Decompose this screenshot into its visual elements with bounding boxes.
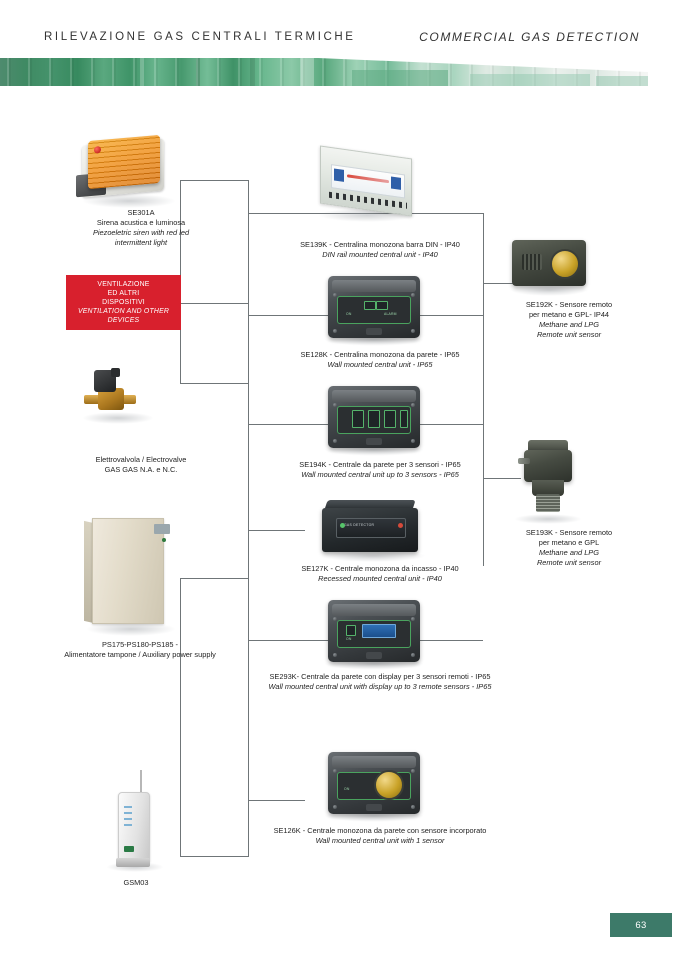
se293k-enclosure: ON: [328, 600, 420, 662]
se301a-desc-en-1: Piezoeletric siren with red led: [52, 228, 230, 238]
se127k-brand-label: GAS DETECTOR: [344, 523, 374, 527]
se301a-code: SE301A: [52, 208, 230, 218]
se301a-desc-it: Sirena acustica e luminosa: [52, 218, 230, 228]
se128k-screw-tr: [411, 293, 415, 297]
se192k-vent-grill: [522, 254, 542, 270]
ps-status-led-icon: [162, 538, 166, 542]
header-title-italian: RILEVAZIONE GAS CENTRALI TERMICHE: [44, 31, 356, 43]
header-title-english: COMMERCIAL GAS DETECTION: [419, 30, 640, 44]
se128k-label-alarm: ALARM: [384, 312, 397, 316]
siren-front-panel: [88, 135, 160, 189]
product-image-electrovalve: [78, 368, 158, 438]
se139k-button-left[interactable]: [334, 169, 344, 182]
se126k-screw-tl: [333, 769, 337, 773]
electrovalve-desc-en: GAS GAS N.A. e N.C.: [52, 465, 230, 475]
se128k-screw-br: [411, 329, 415, 333]
stub-power-supply: [180, 578, 249, 579]
se194k-status-bar: [400, 410, 408, 428]
se128k-enclosure: ON ALARM: [328, 276, 420, 338]
se194k-desc-en: Wall mounted central unit up to 3 sensor…: [250, 470, 510, 480]
product-image-power-supply: [84, 512, 180, 636]
se293k-lcd-display: [362, 624, 396, 638]
se139k-desc-it: SE139K - Centralina monozona barra DIN -…: [250, 240, 510, 250]
se194k-screw-tl: [333, 403, 337, 407]
se193k-line-1: SE193K - Sensore remoto: [480, 528, 658, 538]
se193k-line-3: Methane and LPG: [480, 548, 658, 558]
product-image-se126k: ON: [320, 748, 428, 824]
product-image-se194k: [320, 382, 428, 458]
se293k-screw-tl: [333, 617, 337, 621]
se128k-desc-en: Wall mounted central unit - IP65: [250, 360, 510, 370]
se128k-lid: [332, 280, 416, 292]
ps-display-icon: [154, 524, 170, 534]
se293k-latch[interactable]: [366, 652, 382, 659]
product-image-gsm03: [96, 770, 176, 874]
se301a-desc-en-2: intermittent light: [52, 238, 230, 248]
se192k-line-4: Remote unit sensor: [480, 330, 658, 340]
caption-se192k: SE192K - Sensore remoto per metano e GPL…: [480, 300, 658, 340]
se194k-screw-bl: [333, 439, 337, 443]
se128k-screw-bl: [333, 329, 337, 333]
se139k-din-housing: [320, 146, 412, 217]
se293k-desc-it: SE293K- Centrale da parete con display p…: [240, 672, 520, 682]
se194k-screw-tr: [411, 403, 415, 407]
caption-se194k: SE194K - Centrale da parete per 3 sensor…: [250, 460, 510, 480]
se293k-screw-tr: [411, 617, 415, 621]
gsm-led-strip-icon: [124, 806, 132, 828]
se293k-desc-en: Wall mounted central unit with display u…: [240, 682, 520, 692]
caption-se301a: SE301A Sirena acustica e luminosa Piezoe…: [52, 208, 230, 248]
se128k-indicator-1: [364, 301, 376, 310]
se126k-desc-en: Wall mounted central unit with 1 sensor: [240, 836, 520, 846]
se139k-desc-en: DIN rail mounted central unit - IP40: [250, 250, 510, 260]
se193k-sensor-mesh-icon: [536, 494, 560, 512]
se127k-led-red-icon: [398, 523, 403, 528]
se193k-line-4: Remote unit sensor: [480, 558, 658, 568]
se194k-latch[interactable]: [366, 438, 382, 445]
se127k-desc-it: SE127K - Centrale monozona da incasso - …: [250, 564, 510, 574]
se293k-label-on: ON: [346, 637, 352, 641]
se194k-enclosure: [328, 386, 420, 448]
product-image-se301a: [72, 130, 182, 210]
bus-line-main-vertical: [248, 180, 249, 856]
page-number-badge: 63: [610, 913, 672, 937]
callout-line-5: DEVICES: [108, 316, 140, 325]
stub-se127k: [248, 530, 305, 531]
se293k-screw-bl: [333, 653, 337, 657]
se127k-front-face: [336, 518, 406, 538]
se127k-enclosure: GAS DETECTOR: [322, 508, 418, 552]
se192k-sensor-head-icon: [550, 249, 580, 279]
se194k-screw-br: [411, 439, 415, 443]
valve-shadow: [82, 412, 154, 424]
se194k-lid: [332, 390, 416, 402]
se127k-led-green-icon: [340, 523, 345, 528]
caption-power-supply: PS175-PS180-PS185 - Alimentatore tampone…: [30, 640, 250, 660]
se293k-lid: [332, 604, 416, 616]
se293k-indicator-left: [346, 625, 356, 636]
product-image-se128k: ON ALARM: [320, 272, 428, 348]
electrovalve-desc-it: Elettrovalvola / Electrovalve: [52, 455, 230, 465]
se194k-channel-3: [384, 410, 396, 428]
se194k-channel-2: [368, 410, 380, 428]
callout-line-3: DISPOSITIVI: [102, 298, 145, 307]
caption-se126k: SE126K - Centrale monozona da parete con…: [240, 826, 520, 846]
se128k-indicator-2: [376, 301, 388, 310]
gsm-logo: [124, 846, 134, 852]
se128k-label-on: ON: [346, 312, 352, 316]
caption-se127k: SE127K - Centrale monozona da incasso - …: [250, 564, 510, 584]
gsm-base: [116, 858, 150, 867]
se126k-lid: [332, 756, 416, 768]
stub-valve: [180, 383, 249, 384]
callout-line-4: VENTILATION AND OTHER: [78, 307, 169, 316]
se126k-screw-br: [411, 805, 415, 809]
valve-connector-knob: [111, 368, 120, 377]
caption-se128k: SE128K - Centralina monozona da parete -…: [250, 350, 510, 370]
stub-gsm: [180, 856, 249, 857]
se126k-label-on: ON: [344, 787, 350, 791]
stub-se126k: [248, 800, 305, 801]
se139k-button-right[interactable]: [391, 177, 401, 190]
ps-shadow: [86, 622, 176, 636]
callout-line-1: VENTILAZIONE: [97, 280, 149, 289]
product-image-se139k: [312, 146, 424, 224]
ps-code: PS175-PS180-PS185 -: [30, 640, 250, 650]
caption-gsm03: GSM03: [76, 878, 196, 888]
ps-desc: Alimentatore tampone / Auxiliary power s…: [30, 650, 250, 660]
ps-enclosure: [92, 518, 164, 624]
se192k-enclosure: [512, 240, 586, 286]
product-image-se293k: ON: [320, 596, 428, 672]
se192k-line-1: SE192K - Sensore remoto: [480, 300, 658, 310]
se126k-latch[interactable]: [366, 804, 382, 811]
bus-line-right-vertical: [483, 213, 484, 566]
se126k-screw-tr: [411, 769, 415, 773]
siren-louvres: [88, 135, 160, 189]
se193k-body: [524, 450, 572, 482]
se194k-front-window: [337, 406, 411, 434]
product-image-se127k: GAS DETECTOR: [316, 500, 432, 562]
gsm-code: GSM03: [76, 878, 196, 888]
se293k-front-window: ON: [337, 620, 411, 648]
caption-se193k: SE193K - Sensore remoto per metano e GPL…: [480, 528, 658, 568]
header-green-band: [0, 58, 648, 86]
callout-ventilation-box: VENTILAZIONE ED ALTRI DISPOSITIVI VENTIL…: [66, 275, 181, 330]
se126k-enclosure: ON: [328, 752, 420, 814]
stub-siren-top: [180, 180, 249, 181]
callout-line-2: ED ALTRI: [108, 289, 140, 298]
product-image-se192k: [506, 236, 592, 298]
se193k-cable-gland: [518, 458, 530, 464]
page-header: RILEVAZIONE GAS CENTRALI TERMICHE COMMER…: [0, 0, 678, 92]
se193k-shadow: [514, 514, 582, 524]
se128k-desc-it: SE128K - Centralina monozona da parete -…: [250, 350, 510, 360]
caption-electrovalve: Elettrovalvola / Electrovalve GAS GAS N.…: [52, 455, 230, 475]
gsm-enclosure: [118, 792, 150, 864]
se126k-integrated-sensor-icon: [374, 770, 404, 800]
se126k-desc-it: SE126K - Centrale monozona da parete con…: [240, 826, 520, 836]
se128k-latch[interactable]: [366, 328, 382, 335]
se293k-screw-br: [411, 653, 415, 657]
se193k-line-2: per metano e GPL: [480, 538, 658, 548]
caption-se293k: SE293K- Centrale da parete con display p…: [240, 672, 520, 692]
se127k-desc-en: Recessed mounted central unit - IP40: [250, 574, 510, 584]
se128k-front-window: ON ALARM: [337, 296, 411, 324]
se194k-desc-it: SE194K - Centrale da parete per 3 sensor…: [250, 460, 510, 470]
se128k-screw-tl: [333, 293, 337, 297]
stub-ventilation: [180, 303, 249, 304]
stub-gsm-vertical: [180, 578, 181, 856]
caption-se139k: SE139K - Centralina monozona barra DIN -…: [250, 240, 510, 260]
product-image-se193k: [510, 438, 586, 526]
se192k-line-3: Methane and LPG: [480, 320, 658, 330]
se192k-line-2: per metano e GPL- IP44: [480, 310, 658, 320]
se194k-channel-1: [352, 410, 364, 428]
se126k-screw-bl: [333, 805, 337, 809]
